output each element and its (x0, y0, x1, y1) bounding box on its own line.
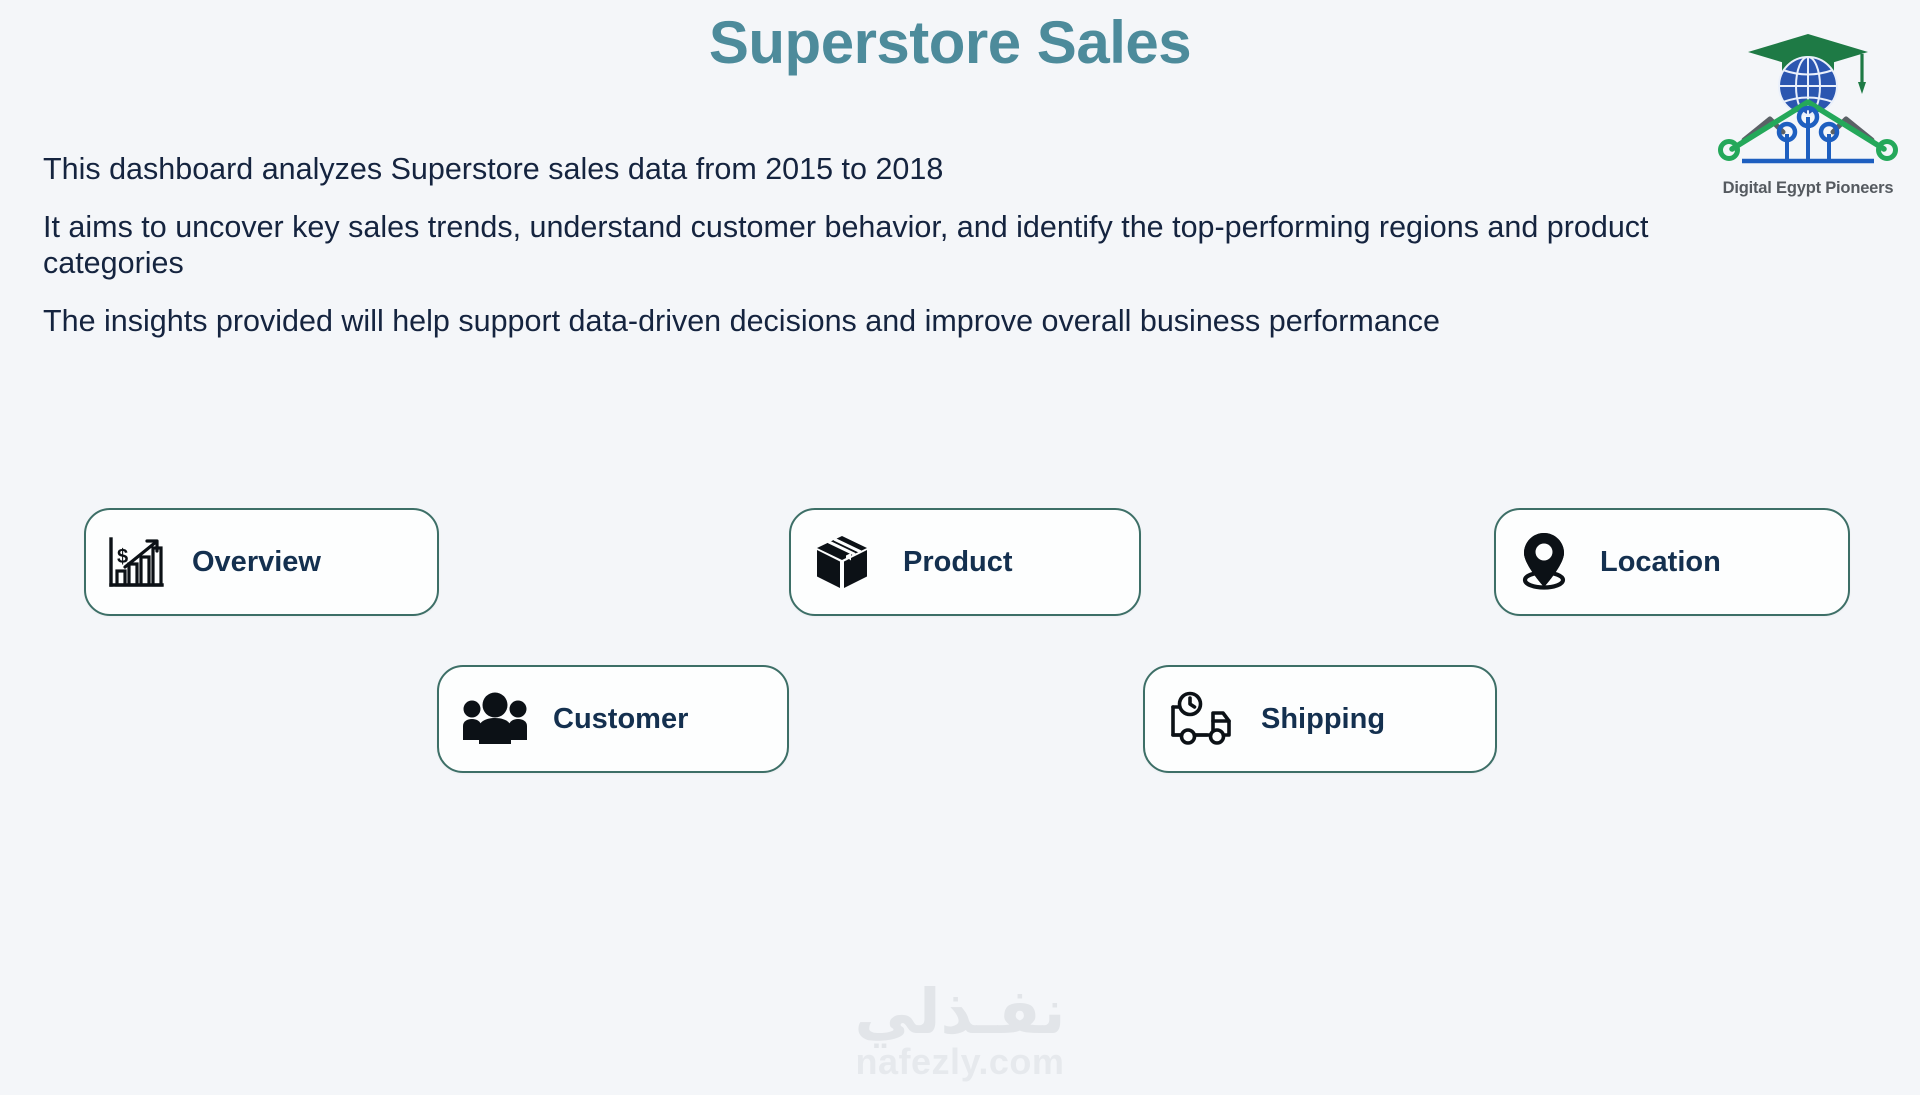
watermark-arabic: نفـذلي (855, 984, 1066, 1043)
intro-text-block: This dashboard analyzes Superstore sales… (43, 152, 1673, 340)
intro-paragraph-3: The insights provided will help support … (43, 304, 1673, 340)
map-pin-icon (1518, 531, 1570, 593)
nav-card-label-customer: Customer (553, 703, 688, 736)
brand-logo: Digital Egypt Pioneers (1710, 4, 1906, 204)
nav-card-location[interactable]: Location (1494, 508, 1850, 616)
nav-card-customer[interactable]: Customer (437, 665, 789, 773)
delivery-truck-clock-icon (1167, 691, 1233, 747)
nav-card-overview[interactable]: $ Overview (84, 508, 439, 616)
svg-text:$: $ (117, 546, 128, 568)
logo-caption: Digital Egypt Pioneers (1710, 179, 1906, 198)
nav-card-label-shipping: Shipping (1261, 703, 1385, 736)
intro-paragraph-1: This dashboard analyzes Superstore sales… (43, 152, 1673, 188)
nav-card-label-product: Product (903, 546, 1013, 579)
intro-paragraph-2: It aims to uncover key sales trends, und… (43, 210, 1673, 282)
page-title: Superstore Sales (0, 8, 1900, 77)
watermark: نفـذلي nafezly.com (855, 984, 1066, 1081)
bar-chart-dollar-growth-icon: $ (106, 533, 166, 591)
package-box-icon (813, 533, 871, 591)
people-group-icon (461, 692, 529, 746)
nav-card-product[interactable]: Product (789, 508, 1141, 616)
digital-egypt-pioneers-logo-icon (1710, 4, 1906, 204)
watermark-latin: nafezly.com (855, 1043, 1066, 1081)
nav-card-shipping[interactable]: Shipping (1143, 665, 1497, 773)
nav-card-label-overview: Overview (192, 546, 321, 579)
nav-card-label-location: Location (1600, 546, 1721, 579)
